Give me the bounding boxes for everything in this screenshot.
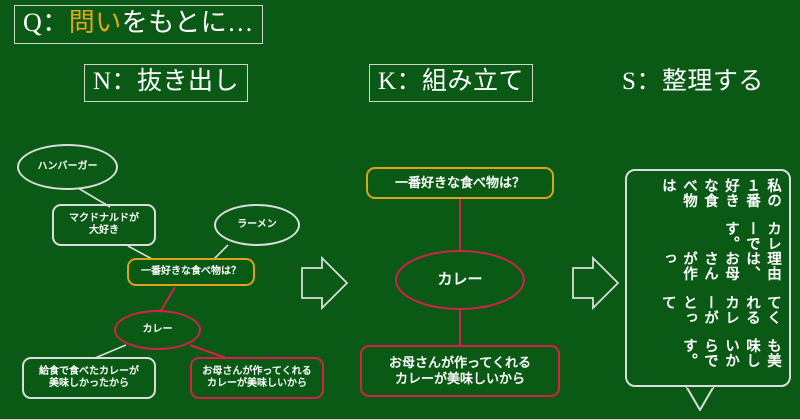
- edge-question-curry-n: [160, 287, 175, 312]
- speech-bubble-text: 私の１番好きな食べ物は カレーです。 理由は、お母さんが作っ てくれるカレーがと…: [627, 171, 789, 385]
- header-banner-extract: N：抜き出し: [84, 64, 248, 102]
- node-curry-assemble[interactable]: カレー: [395, 250, 525, 310]
- bubble-column-5: も美味しいからです。: [633, 338, 783, 378]
- node-question-assemble[interactable]: 一番好きな食べ物は？: [366, 167, 554, 199]
- speech-bubble-tail: [686, 386, 714, 410]
- node-curry-extract[interactable]: カレー: [114, 310, 201, 350]
- header-banner-question: Q：問いをもとに…: [14, 5, 263, 44]
- bubble-column-2: カレーです。: [633, 221, 783, 251]
- header-q-suffix: をもとに…: [122, 8, 254, 37]
- node-ramen[interactable]: ラーメン: [214, 204, 300, 246]
- node-mother-curry-assemble-label: お母さんが作ってくれる カレーが美味しいから: [389, 355, 531, 388]
- bubble-column-1: 私の１番好きな食べ物は: [633, 178, 783, 221]
- arrow-n-to-k: [302, 258, 347, 308]
- header-banner-organize: S：整理する: [613, 64, 773, 102]
- edge-ramen-question: [214, 245, 228, 259]
- arrow-k-to-s: [573, 258, 618, 308]
- header-q-prefix: Q：: [23, 8, 69, 37]
- node-hamburger[interactable]: ハンバーガー: [17, 144, 118, 190]
- node-school-lunch-curry[interactable]: 給食で食べたカレーが 美味しかったから: [22, 357, 156, 399]
- node-mcdonald-love-label: マクドナルドが 大好き: [69, 213, 139, 238]
- node-mcdonald-love[interactable]: マクドナルドが 大好き: [52, 204, 156, 246]
- chalkboard-canvas: Q：問いをもとに… N：抜き出し K：組み立て S：整理する ハンバーガー マク…: [0, 0, 800, 419]
- header-q-highlight: 問い: [69, 8, 122, 37]
- bubble-column-4: てくれるカレーがとって: [633, 295, 783, 338]
- node-question-extract[interactable]: 一番好きな食べ物は？: [127, 258, 255, 286]
- node-mother-curry-assemble[interactable]: お母さんが作ってくれる カレーが美味しいから: [360, 345, 560, 397]
- speech-bubble-summary[interactable]: 私の１番好きな食べ物は カレーです。 理由は、お母さんが作っ てくれるカレーがと…: [625, 169, 791, 387]
- node-school-lunch-curry-label: 給食で食べたカレーが 美味しかったから: [39, 366, 139, 391]
- node-mother-curry-extract-label: お母さんが作ってくれる カレーが美味しいから: [202, 366, 311, 391]
- node-mother-curry-extract[interactable]: お母さんが作ってくれる カレーが美味しいから: [190, 357, 324, 399]
- header-banner-assemble: K：組み立て: [369, 64, 533, 102]
- bubble-column-3: 理由は、お母さんが作っ: [633, 251, 783, 294]
